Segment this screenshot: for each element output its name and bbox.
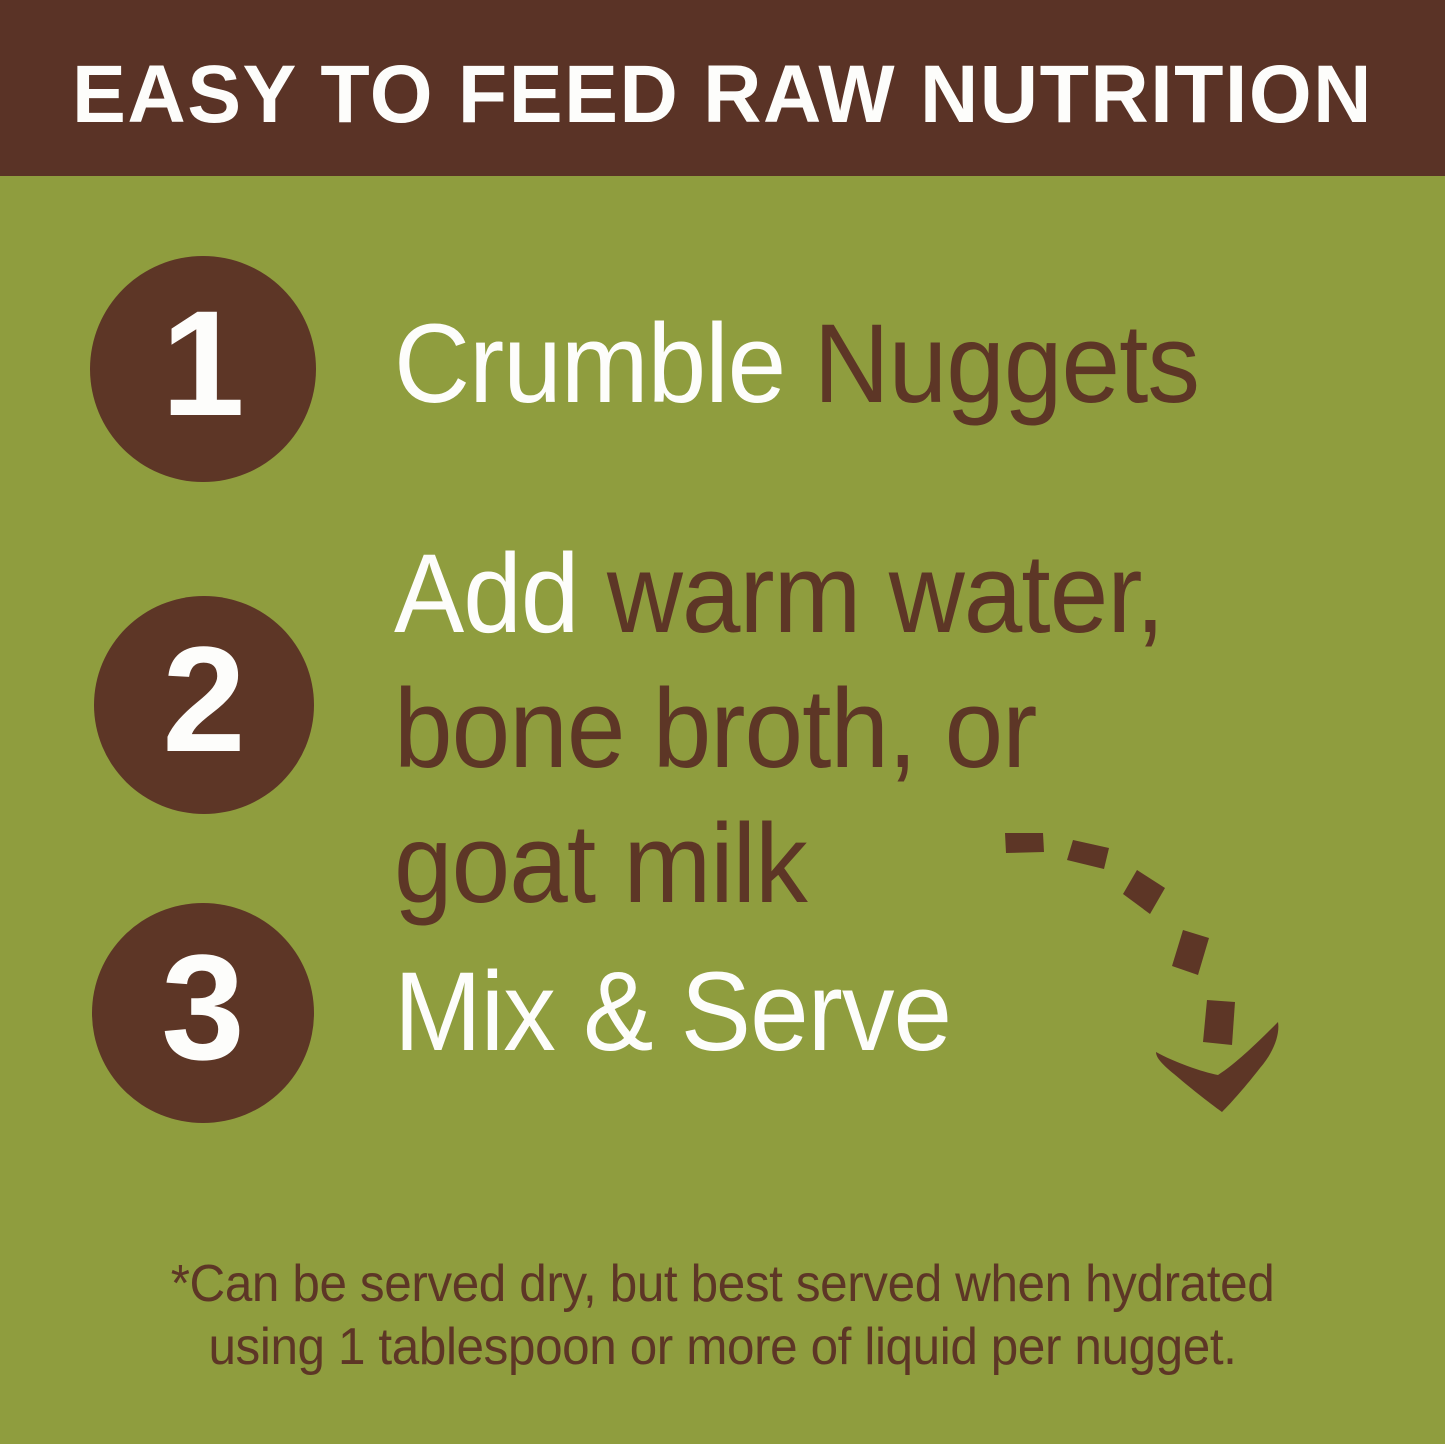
step-number-3: 3 — [161, 932, 244, 1082]
step-2-line-3: goat milk — [394, 796, 1164, 931]
step-text-1: Crumble Nuggets — [394, 296, 1199, 431]
footnote: *Can be served dry, but best served when… — [36, 1253, 1409, 1379]
poster-root: EASY TO FEED RAW NUTRITION 1 Crumble Nug… — [0, 0, 1445, 1444]
step-2-line-1: Add warm water, — [394, 526, 1164, 661]
step-2-segment-1: Add — [394, 531, 607, 656]
step-number-badge-2: 2 — [94, 596, 314, 814]
step-number-badge-3: 3 — [92, 903, 314, 1123]
footnote-line-2: using 1 tablespoon or more of liquid per… — [36, 1316, 1409, 1379]
step-2-line-2: bone broth, or — [394, 661, 1164, 796]
step-1-segment-1: Crumble — [394, 301, 814, 426]
step-number-badge-1: 1 — [90, 256, 316, 482]
step-text-3: Mix & Serve — [394, 944, 951, 1079]
header-band: EASY TO FEED RAW NUTRITION — [0, 0, 1445, 176]
step-number-1: 1 — [161, 288, 244, 438]
step-number-2: 2 — [162, 624, 245, 774]
step-1-segment-2: Nuggets — [814, 301, 1200, 426]
steps-list: 1 Crumble Nuggets 2 Add warm water, bone… — [0, 176, 1445, 1176]
footnote-line-1: *Can be served dry, but best served when… — [36, 1253, 1409, 1316]
page-title: EASY TO FEED RAW NUTRITION — [11, 50, 1434, 140]
step-2-segment-2: warm water, — [607, 531, 1164, 656]
step-text-2: Add warm water, bone broth, or goat milk — [394, 526, 1164, 931]
